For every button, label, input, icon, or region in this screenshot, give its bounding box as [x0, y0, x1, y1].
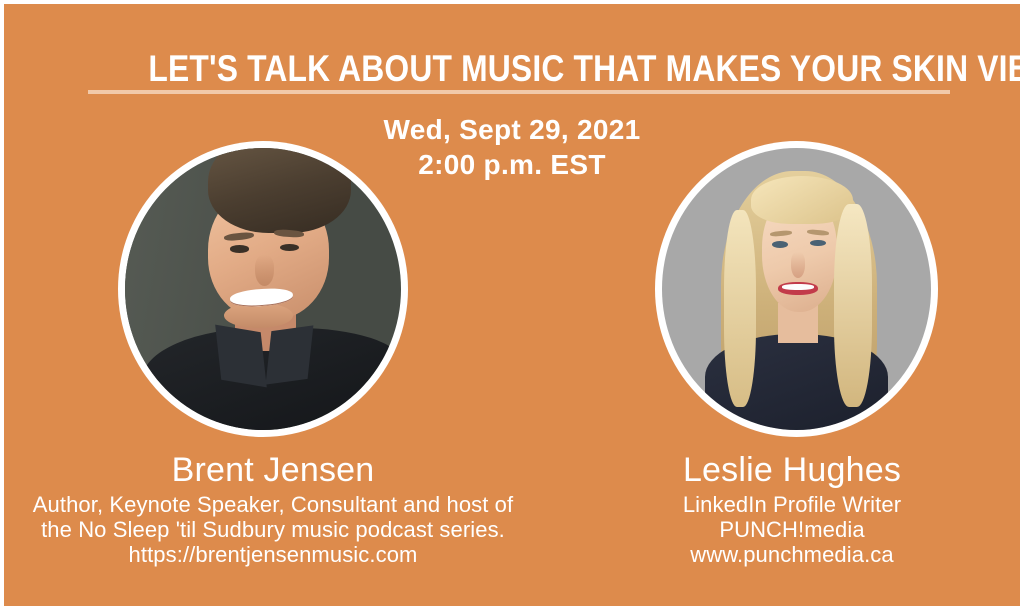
- photo-teeth: [782, 284, 814, 290]
- portrait-image-brent-jensen: [125, 148, 401, 430]
- photo-eye-left: [772, 241, 788, 248]
- speaker-bio-line: LinkedIn Profile Writer: [564, 492, 1020, 517]
- event-date: Wed, Sept 29, 2021: [4, 112, 1020, 147]
- avatar: [662, 148, 931, 430]
- speaker-photo-brent-jensen: [118, 141, 408, 437]
- speaker-company: PUNCH!media: [564, 517, 1020, 542]
- speaker-bio-line: Author, Keynote Speaker, Consultant and …: [4, 492, 542, 517]
- portrait-image-leslie-hughes: [662, 148, 931, 430]
- speaker-bio-line: the No Sleep 'til Sudbury music podcast …: [4, 517, 542, 542]
- photo-collar-left: [215, 325, 267, 388]
- photo-bangs: [751, 176, 853, 224]
- photo-hair-strand-left: [724, 210, 756, 407]
- speaker-name: Brent Jensen: [4, 450, 542, 490]
- title-block: LET'S TALK ABOUT MUSIC THAT MAKES YOUR S…: [88, 48, 950, 90]
- photo-eye-right: [280, 244, 299, 251]
- speaker-website-link[interactable]: https://brentjensenmusic.com: [4, 542, 542, 567]
- photo-nose: [255, 255, 274, 286]
- photo-eye-left: [230, 245, 249, 252]
- speaker-info-brent-jensen: Brent Jensen Author, Keynote Speaker, Co…: [4, 450, 542, 567]
- page-title: LET'S TALK ABOUT MUSIC THAT MAKES YOUR S…: [148, 48, 889, 90]
- title-underline: [88, 90, 950, 94]
- photo-collar-right: [265, 326, 313, 385]
- promo-poster: LET'S TALK ABOUT MUSIC THAT MAKES YOUR S…: [4, 4, 1020, 606]
- speaker-info-leslie-hughes: Leslie Hughes LinkedIn Profile Writer PU…: [564, 450, 1020, 567]
- speaker-name: Leslie Hughes: [564, 450, 1020, 490]
- speaker-website-link[interactable]: www.punchmedia.ca: [564, 542, 1020, 567]
- avatar: [125, 148, 401, 430]
- photo-hair-strand-right: [834, 204, 872, 407]
- photo-nose: [791, 252, 804, 277]
- photo-hair: [208, 148, 352, 233]
- speaker-photo-leslie-hughes: [655, 141, 938, 437]
